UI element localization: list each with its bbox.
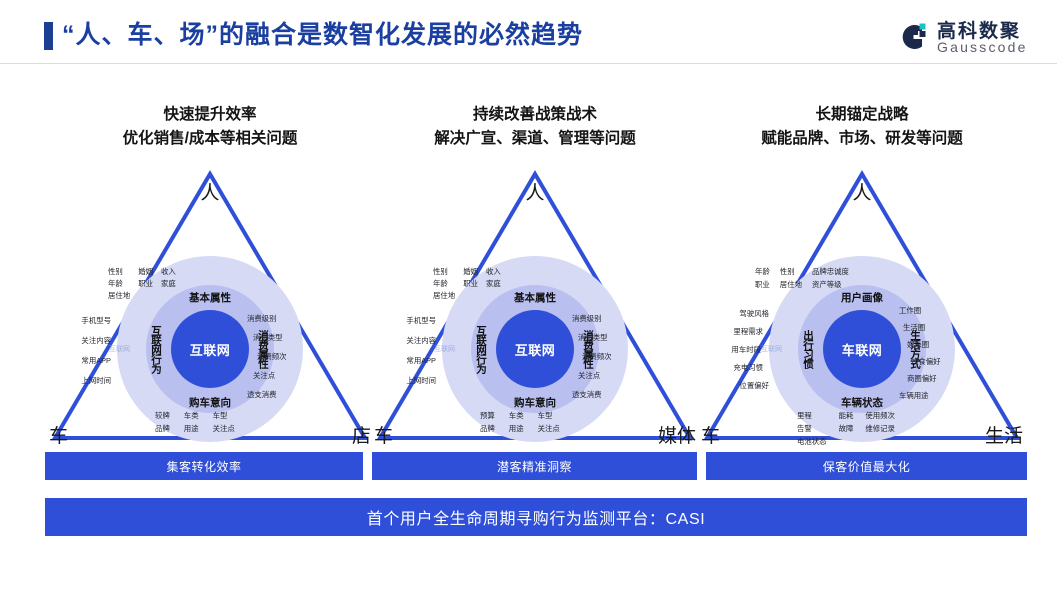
- platform-banner[interactable]: 首个用户全生命周期寻购行为监测平台：CASI: [45, 498, 1027, 536]
- ring-label-3-left: 出行习惯: [801, 330, 816, 368]
- attr-item: 性别: [780, 266, 802, 277]
- attr-item: 家庭: [486, 278, 501, 289]
- attr-item: 职业: [463, 278, 478, 289]
- attr-item: 年龄: [433, 278, 455, 289]
- triangle-2-corner-bottom-left: 车: [374, 421, 393, 448]
- attr-item: 车辆用途: [899, 390, 929, 401]
- ring-core-3: 车联网: [823, 310, 901, 388]
- attrs-right-1: 消费级别 消费类型 消费频次 关注点 透支消费: [251, 313, 287, 400]
- attr-item: 消费级别: [247, 313, 277, 324]
- attr-item: 品牌: [480, 423, 495, 434]
- ring-label-2-left: 互联网行为: [474, 325, 489, 373]
- column-header-3-line1: 长期锚定战略: [697, 103, 1027, 127]
- attrs-left-3: 驾驶风格 里程需求 用车时段 充电习惯 位置偏好: [703, 308, 763, 391]
- attr-item: 使用频次: [865, 410, 895, 421]
- column-header-2-line2: 解决广宣、渠道、管理等问题: [370, 127, 700, 151]
- column-header-3-line2: 赋能品牌、市场、研发等问题: [697, 127, 1027, 151]
- attr-item: 故障: [839, 423, 854, 434]
- attr-item: 饮食偏好: [911, 356, 941, 367]
- title-accent-bar: [44, 22, 53, 50]
- attr-item: 关注点: [213, 423, 235, 434]
- ring-core-2: 互联网: [496, 310, 574, 388]
- triangle-3-corner-bottom-right: 生活: [985, 421, 1023, 448]
- page-title: “人、车、场”的融合是数智化发展的必然趋势: [62, 15, 583, 51]
- attr-item: 关注点: [578, 370, 600, 381]
- attr-item: 收入: [161, 266, 176, 277]
- attr-item: 位置偏好: [739, 380, 769, 391]
- attr-item: 婚姻: [463, 266, 478, 277]
- attr-item: 车类: [184, 410, 199, 421]
- attrs-right-2: 消费级别 消费类型 消费频次 关注点 透支消费: [576, 313, 612, 400]
- ring-label-1-bottom: 购车意向: [189, 395, 231, 410]
- attrs-left-2: 手机型号 关注内容 常用APP 上网时间: [378, 315, 436, 386]
- column-header-1: 快速提升效率 优化销售/成本等相关问题: [45, 103, 375, 151]
- triangle-1-corner-bottom-left: 车: [49, 421, 68, 448]
- attr-item: 关注内容: [406, 335, 436, 346]
- attrs-bottom-3: 里程 能耗 使用频次 告警 故障 维修记录 电池状态: [797, 410, 895, 447]
- attr-item: 车型: [213, 410, 235, 421]
- column-header-1-line2: 优化销售/成本等相关问题: [45, 127, 375, 151]
- triangle-panel-3: 人 车 生活 车联网 用户画像 车辆状态 出行习惯 生活方式 互联网 年龄 性别…: [697, 160, 1027, 448]
- column-header-3: 长期锚定战略 赋能品牌、市场、研发等问题: [697, 103, 1027, 151]
- attr-item: 消费频次: [582, 351, 612, 362]
- triangle-panel-1: 人 车 店 互联网 基本属性 购车意向 互联网行为 消费属性 互联网 性别 婚姻…: [45, 160, 375, 448]
- attr-item: 性别: [433, 266, 455, 277]
- attr-item: 婚姻: [138, 266, 153, 277]
- triangle-3-corner-top: 人: [852, 178, 871, 205]
- attr-item: 品牌: [155, 423, 170, 434]
- attr-item: 里程: [797, 410, 827, 421]
- attr-item: 职业: [138, 278, 153, 289]
- ring-core-1: 互联网: [171, 310, 249, 388]
- attr-item: 消费类型: [578, 332, 608, 343]
- attrs-top-1: 性别 婚姻 收入 年龄 职业 家庭 居住地: [108, 266, 176, 301]
- attr-item: 商圈偏好: [907, 373, 937, 384]
- attr-item: 上网时间: [81, 375, 111, 386]
- attr-item: 年龄: [108, 278, 130, 289]
- outcome-bar-1[interactable]: 集客转化效率: [45, 452, 363, 480]
- ring-label-1-left: 互联网行为: [149, 325, 164, 373]
- attr-item: 消费级别: [572, 313, 602, 324]
- ring-label-2-top: 基本属性: [514, 290, 556, 305]
- attr-item: 消费类型: [253, 332, 283, 343]
- attr-item: 常用APP: [406, 355, 436, 366]
- attr-item: 上网时间: [406, 375, 436, 386]
- triangle-2-corner-top: 人: [525, 178, 544, 205]
- ring-label-3-top: 用户画像: [841, 290, 883, 305]
- attr-item: 告警: [797, 423, 827, 434]
- triangle-2-corner-bottom-right: 媒体: [658, 421, 696, 448]
- attr-item: 关注点: [538, 423, 560, 434]
- attr-item: 维修记录: [865, 423, 895, 434]
- attr-item: 预算: [480, 410, 495, 421]
- attr-item: 手机型号: [81, 315, 111, 326]
- attr-item: 车型: [538, 410, 560, 421]
- attr-item: 电池状态: [797, 436, 827, 447]
- attr-item: 收入: [486, 266, 501, 277]
- outcome-bar-row: 集客转化效率 潜客精准洞察 保客价值最大化: [45, 452, 1027, 480]
- attr-item: 较牌: [155, 410, 170, 421]
- ring-label-1-top: 基本属性: [189, 290, 231, 305]
- attr-item: 手机型号: [406, 315, 436, 326]
- core-label-3: 车联网: [842, 340, 883, 359]
- attr-item: 生活圈: [903, 322, 925, 333]
- attr-item: 消费频次: [257, 351, 287, 362]
- brand-logo: 高科数聚 Gausscode: [897, 16, 1037, 60]
- attr-item: 驾驶风格: [739, 308, 769, 319]
- attr-item: 资产等级: [812, 279, 849, 290]
- attr-item: 居住地: [433, 290, 455, 301]
- attrs-bottom-1: 较牌 车类 车型 品牌 用途 关注点: [155, 410, 235, 434]
- attr-item: 关注内容: [81, 335, 111, 346]
- triangle-panel-2: 人 车 媒体 互联网 基本属性 购车意向 互联网行为 消费属性 互联网 性别 婚…: [370, 160, 700, 448]
- attrs-top-2: 性别 婚姻 收入 年龄 职业 家庭 居住地: [433, 266, 501, 301]
- attr-item: 职业: [755, 279, 770, 290]
- attr-item: 里程需求: [733, 326, 763, 337]
- core-label-1: 互联网: [190, 340, 231, 359]
- attr-item: 用途: [184, 423, 199, 434]
- column-header-2-line1: 持续改善战策战术: [370, 103, 700, 127]
- attr-item: 关注点: [253, 370, 275, 381]
- attr-item: 透支消费: [572, 389, 602, 400]
- attr-item: 车类: [509, 410, 524, 421]
- gausscode-logo-icon: [897, 20, 931, 54]
- attr-item: 家庭: [161, 278, 176, 289]
- attr-item: 居住地: [108, 290, 130, 301]
- attrs-right-3: 工作圈 生活圈 娱乐圈 饮食偏好 商圈偏好 车辆用途: [905, 305, 941, 401]
- slide-header: “人、车、场”的融合是数智化发展的必然趋势 高科数聚 Gausscode: [0, 0, 1057, 64]
- header-divider: [0, 63, 1057, 64]
- attrs-left-1: 手机型号 关注内容 常用APP 上网时间: [53, 315, 111, 386]
- logo-text-en: Gausscode: [937, 39, 1028, 55]
- attr-item: 常用APP: [81, 355, 111, 366]
- attr-item: 用车时段: [731, 344, 761, 355]
- attr-item: 娱乐圈: [907, 339, 929, 350]
- outcome-bar-3[interactable]: 保客价值最大化: [706, 452, 1027, 480]
- attr-item: 年龄: [755, 266, 770, 277]
- column-header-2: 持续改善战策战术 解决广宣、渠道、管理等问题: [370, 103, 700, 151]
- attr-item: 品牌忠诚度: [812, 266, 849, 277]
- attr-item: 能耗: [839, 410, 854, 421]
- attr-item: 充电习惯: [733, 362, 763, 373]
- attr-item: 透支消费: [247, 389, 277, 400]
- attrs-top-3: 年龄 性别 品牌忠诚度 职业 居住地 资产等级: [755, 266, 849, 290]
- slide-root: “人、车、场”的融合是数智化发展的必然趋势 高科数聚 Gausscode 快速提…: [0, 0, 1057, 589]
- ring-label-3-bottom: 车辆状态: [841, 395, 883, 410]
- core-label-2: 互联网: [515, 340, 556, 359]
- attr-item: 用途: [509, 423, 524, 434]
- triangle-1-corner-top: 人: [200, 178, 219, 205]
- column-header-1-line1: 快速提升效率: [45, 103, 375, 127]
- ring-label-2-bottom: 购车意向: [514, 395, 556, 410]
- attr-item: 性别: [108, 266, 130, 277]
- attr-item: 居住地: [780, 279, 802, 290]
- triangle-1-corner-bottom-right: 店: [352, 421, 371, 448]
- triangle-3-corner-bottom-left: 车: [701, 421, 720, 448]
- outcome-bar-2[interactable]: 潜客精准洞察: [372, 452, 697, 480]
- attrs-bottom-2: 预算 车类 车型 品牌 用途 关注点: [480, 410, 560, 434]
- attr-item: 工作圈: [899, 305, 921, 316]
